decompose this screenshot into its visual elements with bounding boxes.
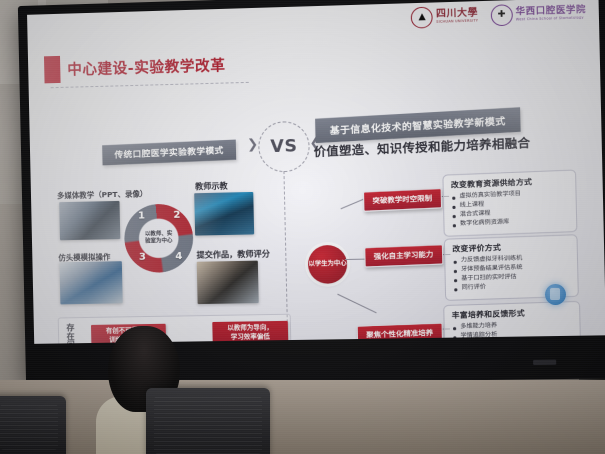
title-divider (51, 82, 249, 88)
title-accent-bar (44, 56, 61, 83)
floor (0, 380, 605, 454)
donut-number-1: 1 (138, 210, 145, 221)
donut-center-text: 以教师、实验室为中心 (143, 231, 174, 245)
logo-row: ▲ 四川大學 SICHUAN UNIVERSITY ✚ 华西口腔医学院 West… (411, 2, 586, 29)
vs-badge: VS (258, 121, 310, 173)
donut-number-2: 2 (173, 210, 180, 221)
pill-autonomous-learning: 强化自主学习能力 (364, 244, 443, 267)
chair (0, 396, 66, 454)
photo-phantom-head-practice (59, 261, 122, 304)
logo-en-text: West China School of Stomatology (516, 16, 587, 22)
photo-grading-session (197, 261, 259, 304)
card-title: 丰富培养和反馈形式 (452, 306, 572, 321)
brand-mark (533, 360, 556, 365)
sichuan-university-logo: ▲ 四川大學 SICHUAN UNIVERSITY (411, 5, 478, 28)
left-heading: 传统口腔医学实验教学模式 (102, 140, 236, 166)
pill-breakthrough-time-space: 突破教学时空限制 (363, 188, 442, 212)
donut-number-3: 3 (139, 252, 146, 263)
problems-label: 存在问题 (64, 324, 78, 344)
donut-number-4: 4 (175, 251, 182, 262)
card-resource-supply: 改变教育资源供给方式 虚拟仿真实验教学项目 线上课程 混合式课程 数字化病例资源… (442, 169, 577, 236)
hub-text: 以学生为中心 (308, 260, 346, 269)
connector-line (337, 294, 376, 314)
student-centered-hub: 以学生为中心 (308, 245, 348, 284)
circle-emblem-icon: ✚ (490, 4, 512, 26)
photo-teacher-demonstration (194, 192, 254, 236)
west-china-stomatology-logo: ✚ 华西口腔医学院 West China School of Stomatolo… (490, 2, 586, 26)
left-label-submit-grade: 提交作品，教师评分 (196, 248, 270, 260)
card-list: 虚拟仿真实验教学项目 线上课程 混合式课程 数字化病例资源库 (451, 188, 569, 230)
shield-icon: ▲ (411, 7, 433, 29)
photograph-of-classroom-screen: ▲ 四川大學 SICHUAN UNIVERSITY ✚ 华西口腔医学院 West… (0, 0, 605, 454)
display-screen: ▲ 四川大學 SICHUAN UNIVERSITY ✚ 华西口腔医学院 West… (18, 0, 605, 386)
presentation-slide: ▲ 四川大學 SICHUAN UNIVERSITY ✚ 华西口腔医学院 West… (27, 0, 605, 344)
slide-title-text: 中心建设-实验教学改革 (60, 51, 234, 83)
chair (146, 388, 270, 454)
blue-indicator-light (545, 284, 566, 305)
chevron-right-icon: ❯ (247, 137, 258, 152)
card-title: 改变评价方式 (452, 240, 569, 255)
photo-multimedia-classroom (59, 201, 120, 240)
left-label-demonstration: 教师示教 (195, 180, 228, 192)
slide-title: 中心建设-实验教学改革 (44, 51, 234, 83)
left-label-multimedia: 多媒体教学（PPT、录像） (57, 188, 148, 201)
logo-en-text: SICHUAN UNIVERSITY (436, 20, 478, 25)
screen-surface: ▲ 四川大學 SICHUAN UNIVERSITY ✚ 华西口腔医学院 West… (27, 0, 605, 344)
vs-label: VS (270, 136, 297, 157)
